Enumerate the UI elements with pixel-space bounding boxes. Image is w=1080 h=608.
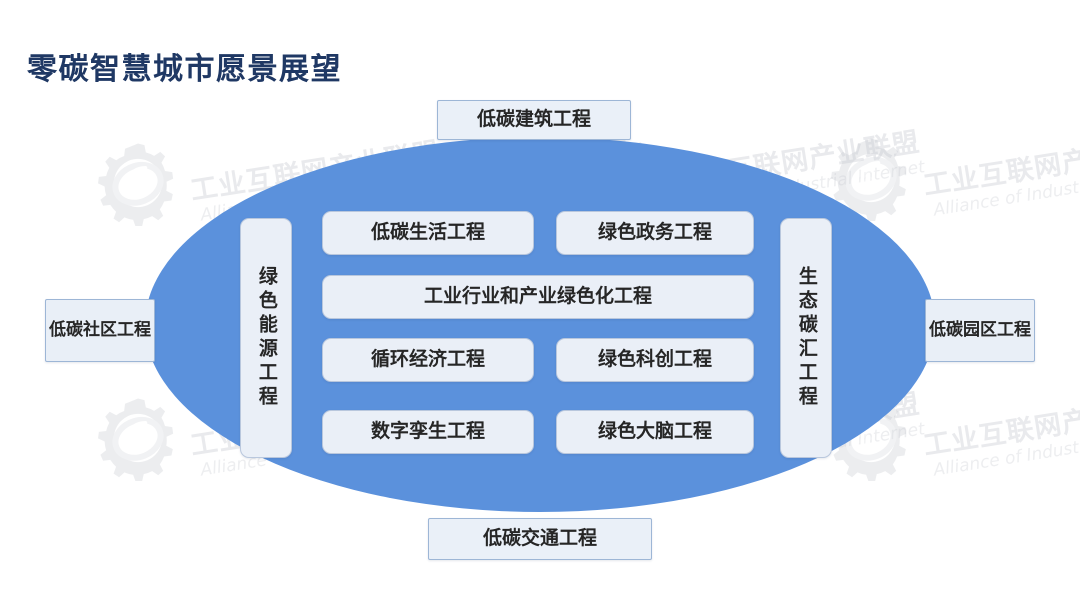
inner-node-row3-col1[interactable]: 循环经济工程 (322, 338, 534, 382)
page-title: 零碳智慧城市愿景展望 (27, 44, 342, 88)
inner-node-row4-col1[interactable]: 数字孪生工程 (322, 410, 534, 454)
watermark-cn-text: 工业互联网产业联盟 (922, 134, 1080, 202)
slide-canvas: 工业互联网产业联盟Alliance of Industrial Internet… (0, 0, 1080, 608)
watermark-cn-text: 工业互联网产业联盟 (922, 394, 1080, 462)
watermark-en-text: Alliance of Industrial Internet (932, 424, 1080, 481)
pillar-node-left[interactable]: 绿色能源工程 (240, 218, 292, 458)
gear-wifi-icon (95, 140, 181, 226)
pillar-node-right[interactable]: 生态碳汇工程 (780, 218, 832, 458)
satellite-node-top[interactable]: 低碳建筑工程 (437, 100, 631, 140)
satellite-node-bottom[interactable]: 低碳交通工程 (428, 518, 652, 560)
satellite-node-right[interactable]: 低碳园区工程 (925, 299, 1035, 362)
watermark-en-text: Alliance of Industrial Internet (932, 164, 1080, 221)
gear-wifi-icon (95, 395, 181, 481)
inner-node-row1-col2[interactable]: 绿色政务工程 (556, 211, 754, 255)
inner-node-row2-wide[interactable]: 工业行业和产业绿色化工程 (322, 275, 754, 319)
inner-node-row1-col1[interactable]: 低碳生活工程 (322, 211, 534, 255)
inner-node-row3-col2[interactable]: 绿色科创工程 (556, 338, 754, 382)
watermark-logo: 工业互联网产业联盟Alliance of Industrial Internet (828, 135, 1080, 221)
satellite-node-left[interactable]: 低碳社区工程 (45, 299, 155, 362)
inner-node-row4-col2[interactable]: 绿色大脑工程 (556, 410, 754, 454)
